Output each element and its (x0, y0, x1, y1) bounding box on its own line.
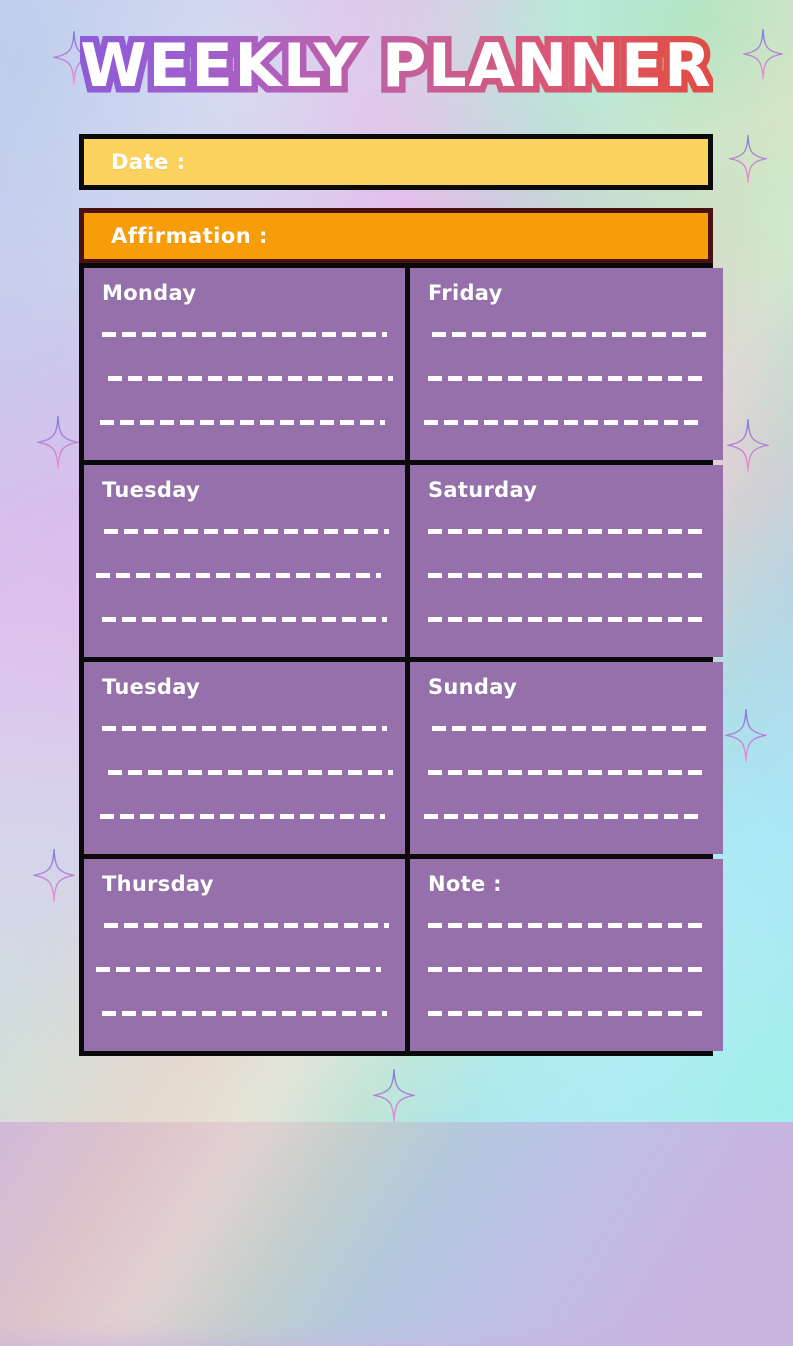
day-grid: MondayFridayTuesdaySaturdayTuesdaySunday… (79, 263, 713, 1056)
day-cell-label: Saturday (428, 479, 705, 502)
writing-lines (84, 521, 405, 651)
writing-line[interactable] (432, 726, 709, 731)
day-cell[interactable]: Tuesday (84, 662, 405, 854)
writing-line[interactable] (428, 617, 705, 622)
day-cell[interactable]: Note : (410, 859, 723, 1051)
writing-line[interactable] (108, 770, 393, 775)
page-title: WEEKLY PLANNER WEEKLY PLANNER (0, 36, 793, 96)
writing-lines (410, 718, 723, 848)
day-cell-label: Thursday (102, 873, 387, 896)
writing-line[interactable] (428, 376, 705, 381)
day-cell[interactable]: Monday (84, 268, 405, 460)
writing-lines (410, 324, 723, 454)
affirmation-field[interactable]: Affirmation : (79, 208, 713, 264)
planner-page: WEEKLY PLANNER WEEKLY PLANNER Date : Aff… (0, 0, 793, 1122)
writing-line[interactable] (428, 529, 705, 534)
writing-line[interactable] (108, 376, 393, 381)
writing-line[interactable] (104, 529, 389, 534)
writing-line[interactable] (432, 332, 709, 337)
writing-line[interactable] (424, 420, 701, 425)
day-cell[interactable]: Tuesday (84, 465, 405, 657)
affirmation-label: Affirmation : (84, 224, 268, 248)
day-cell-label: Tuesday (102, 479, 387, 502)
writing-lines (84, 718, 405, 848)
day-cell[interactable]: Thursday (84, 859, 405, 1051)
writing-lines (410, 915, 723, 1045)
date-label: Date : (84, 150, 186, 174)
day-cell[interactable]: Friday (410, 268, 723, 460)
writing-line[interactable] (424, 814, 701, 819)
writing-line[interactable] (102, 617, 387, 622)
day-cell-label: Monday (102, 282, 387, 305)
day-cell-label: Note : (428, 873, 705, 896)
page-title-text: WEEKLY PLANNER (80, 36, 712, 96)
date-field[interactable]: Date : (79, 134, 713, 190)
day-cell-label: Tuesday (102, 676, 387, 699)
writing-line[interactable] (100, 420, 385, 425)
day-cell-label: Friday (428, 282, 705, 305)
writing-line[interactable] (428, 967, 705, 972)
day-cell[interactable]: Sunday (410, 662, 723, 854)
writing-line[interactable] (100, 814, 385, 819)
writing-lines (84, 324, 405, 454)
writing-line[interactable] (96, 573, 381, 578)
writing-line[interactable] (428, 573, 705, 578)
writing-lines (410, 521, 723, 651)
writing-line[interactable] (104, 923, 389, 928)
writing-line[interactable] (96, 967, 381, 972)
writing-line[interactable] (428, 1011, 705, 1016)
writing-line[interactable] (102, 726, 387, 731)
writing-line[interactable] (428, 923, 705, 928)
writing-lines (84, 915, 405, 1045)
writing-line[interactable] (428, 770, 705, 775)
day-cell-label: Sunday (428, 676, 705, 699)
writing-line[interactable] (102, 332, 387, 337)
day-cell[interactable]: Saturday (410, 465, 723, 657)
writing-line[interactable] (102, 1011, 387, 1016)
